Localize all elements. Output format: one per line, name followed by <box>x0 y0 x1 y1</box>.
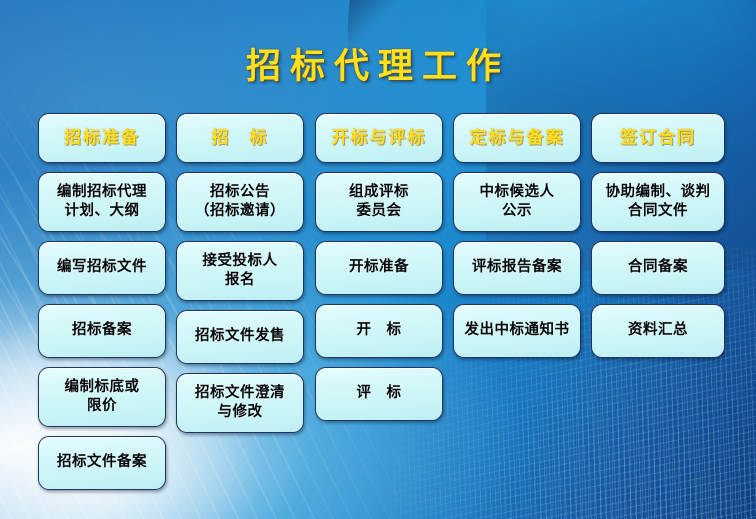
column-header-3[interactable]: 定标与备案 <box>453 113 581 163</box>
process-step-0-1[interactable]: 编写招标文件 <box>38 241 166 295</box>
process-step-3-2[interactable]: 发出中标通知书 <box>453 304 581 358</box>
process-step-2-0[interactable]: 组成评标委员会 <box>315 172 443 232</box>
process-step-1-3[interactable]: 招标文件澄清与修改 <box>176 373 304 433</box>
process-column-0: 招标准备编制招标代理计划、大纲编写招标文件招标备案编制标底或限价招标文件备案 <box>38 113 166 499</box>
slide-canvas: 招标代理工作 招标准备编制招标代理计划、大纲编写招标文件招标备案编制标底或限价招… <box>0 0 756 519</box>
process-step-3-0[interactable]: 中标候选人公示 <box>453 172 581 232</box>
column-header-1[interactable]: 招 标 <box>176 113 304 163</box>
column-header-2[interactable]: 开标与评标 <box>315 113 443 163</box>
process-step-3-1[interactable]: 评标报告备案 <box>453 241 581 295</box>
process-step-2-2[interactable]: 开 标 <box>315 304 443 358</box>
process-step-2-1[interactable]: 开标准备 <box>315 241 443 295</box>
process-step-2-3[interactable]: 评 标 <box>315 367 443 421</box>
process-column-2: 开标与评标组成评标委员会开标准备开 标评 标 <box>315 113 443 430</box>
process-step-4-2[interactable]: 资料汇总 <box>591 304 725 358</box>
process-step-0-3[interactable]: 编制标底或限价 <box>38 367 166 427</box>
process-column-1: 招 标招标公告（招标邀请）接受投标人报名招标文件发售招标文件澄清与修改 <box>176 113 304 442</box>
process-step-4-1[interactable]: 合同备案 <box>591 241 725 295</box>
process-step-1-0[interactable]: 招标公告（招标邀请） <box>176 172 304 232</box>
process-step-1-2[interactable]: 招标文件发售 <box>176 310 304 364</box>
process-column-4: 签订合同协助编制、谈判合同文件合同备案资料汇总 <box>591 113 725 367</box>
slide-title: 招标代理工作 <box>0 38 756 89</box>
column-header-4[interactable]: 签订合同 <box>591 113 725 163</box>
process-step-4-0[interactable]: 协助编制、谈判合同文件 <box>591 172 725 232</box>
process-step-1-1[interactable]: 接受投标人报名 <box>176 241 304 301</box>
process-step-0-2[interactable]: 招标备案 <box>38 304 166 358</box>
process-column-3: 定标与备案中标候选人公示评标报告备案发出中标通知书 <box>453 113 581 367</box>
column-header-0[interactable]: 招标准备 <box>38 113 166 163</box>
process-step-0-0[interactable]: 编制招标代理计划、大纲 <box>38 172 166 232</box>
process-step-0-4[interactable]: 招标文件备案 <box>38 436 166 490</box>
